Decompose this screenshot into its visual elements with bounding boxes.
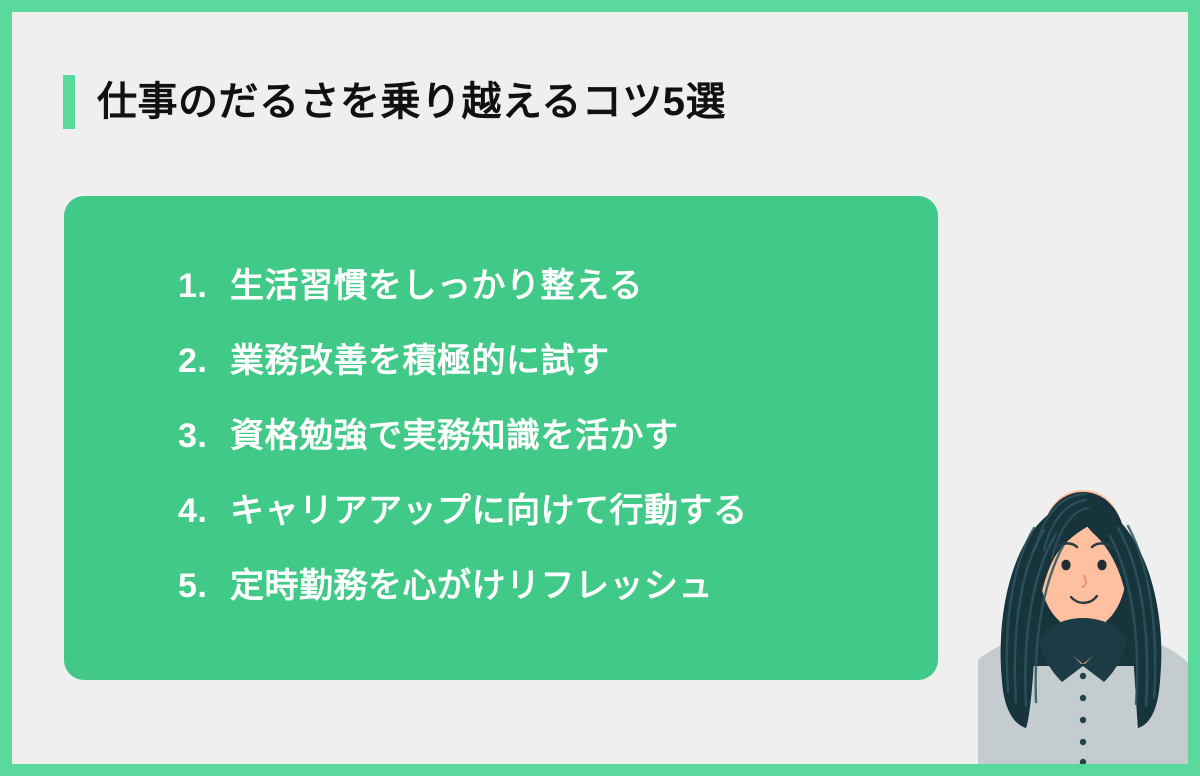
slide-canvas: 仕事のだるさを乗り越えるコツ5選 1. 生活習慣をしっかり整える 2. 業務改善… xyxy=(0,0,1200,776)
list-item-label: 業務改善を積極的に試す xyxy=(230,333,918,382)
list-item: 1. 生活習慣をしっかり整える xyxy=(178,258,918,333)
list-item-number: 1. xyxy=(178,267,230,306)
tips-card: 1. 生活習慣をしっかり整える 2. 業務改善を積極的に試す 3. 資格勉強で実… xyxy=(64,196,938,680)
list-item-label: キャリアアップに向けて行動する xyxy=(230,483,918,532)
list-item-label: 資格勉強で実務知識を活かす xyxy=(230,408,918,457)
title-accent-bar xyxy=(63,75,75,129)
list-item-label: 定時勤務を心がけリフレッシュ xyxy=(230,558,918,607)
page-title-text: 仕事のだるさを乗り越えるコツ5選 xyxy=(97,82,726,122)
list-item: 5. 定時勤務を心がけリフレッシュ xyxy=(178,558,918,633)
list-item-number: 5. xyxy=(178,567,230,606)
list-item-number: 2. xyxy=(178,342,230,381)
inner-panel: 仕事のだるさを乗り越えるコツ5選 1. 生活習慣をしっかり整える 2. 業務改善… xyxy=(12,12,1188,764)
list-item-number: 3. xyxy=(178,417,230,456)
page-title: 仕事のだるさを乗り越えるコツ5選 xyxy=(63,75,726,129)
list-item: 4. キャリアアップに向けて行動する xyxy=(178,483,918,558)
list-item: 3. 資格勉強で実務知識を活かす xyxy=(178,408,918,483)
list-item-number: 4. xyxy=(178,492,230,531)
woman-portrait-illustration xyxy=(978,452,1188,764)
list-item-label: 生活習慣をしっかり整える xyxy=(230,258,918,307)
tips-list: 1. 生活習慣をしっかり整える 2. 業務改善を積極的に試す 3. 資格勉強で実… xyxy=(178,258,918,633)
list-item: 2. 業務改善を積極的に試す xyxy=(178,333,918,408)
